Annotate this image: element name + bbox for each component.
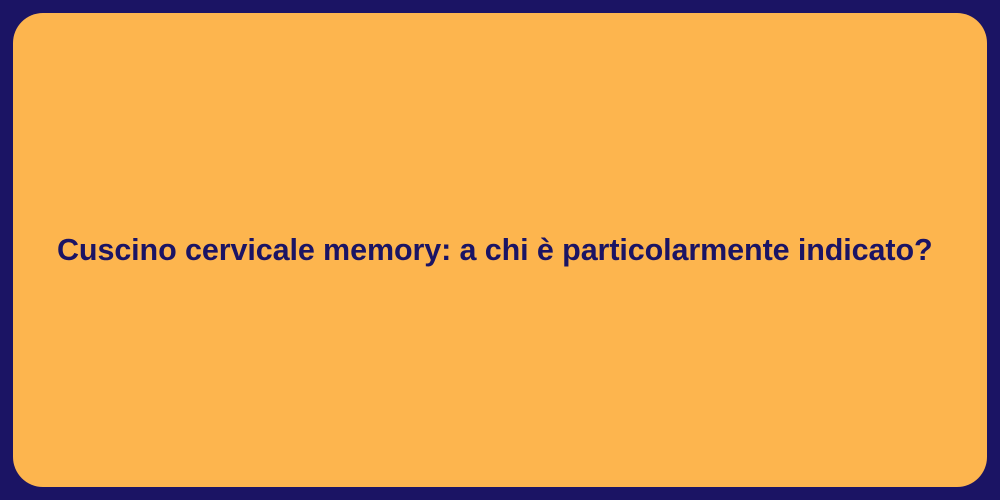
banner-headline: Cuscino cervicale memory: a chi è partic… bbox=[13, 231, 963, 269]
banner-card: Cuscino cervicale memory: a chi è partic… bbox=[13, 13, 987, 487]
banner-frame: Cuscino cervicale memory: a chi è partic… bbox=[0, 0, 1000, 500]
